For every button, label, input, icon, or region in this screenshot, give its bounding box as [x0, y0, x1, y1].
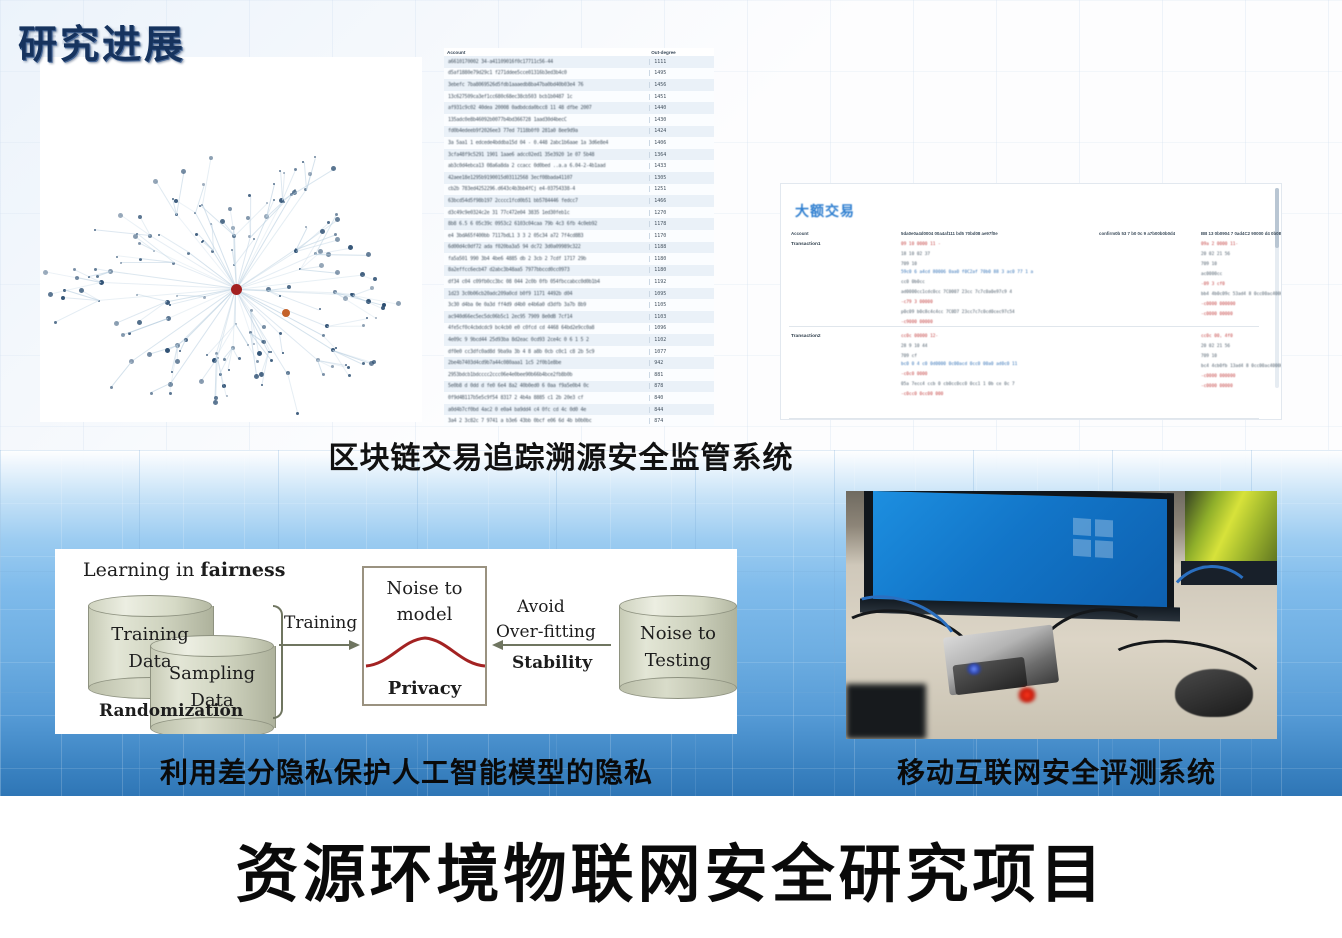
- table-row[interactable]: a0d4b7cf0bd 4ac2 0 e0a4 ba9dd4 c4 0fc cd…: [444, 404, 714, 416]
- graph-node[interactable]: [369, 361, 374, 366]
- graph-node[interactable]: [138, 215, 142, 219]
- differential-privacy-diagram: Learning in fairness Training Data Sampl…: [55, 549, 737, 734]
- graph-edge: [287, 373, 298, 413]
- graph-node[interactable]: [396, 301, 401, 306]
- graph-node[interactable]: [347, 366, 350, 369]
- cell-out-degree: 1433: [649, 163, 714, 169]
- graph-node[interactable]: [362, 324, 365, 327]
- windows-logo-icon: [1073, 518, 1113, 559]
- cell-account: fa5a501 990 3b4 4be6 4885 db 2 3cb 2 7cd…: [444, 256, 649, 262]
- graph-node[interactable]: [118, 213, 123, 218]
- transaction-scrollbar-thumb[interactable]: [1275, 188, 1279, 248]
- graph-node[interactable]: [253, 238, 255, 240]
- cell-out-degree: 1188: [649, 244, 714, 250]
- column-header-account: Account: [447, 50, 651, 55]
- transaction-mid-line: p0c09 b0c8c4c4cc 7C0D7 23cc7c7c0cd0cec97…: [901, 310, 1015, 315]
- table-row[interactable]: 1d23 3c0b06cb20adc209a0cd b0f9 1171 4492…: [444, 288, 714, 300]
- graph-node[interactable]: [136, 294, 138, 296]
- graph-node[interactable]: [110, 386, 113, 389]
- photo-blue-led-icon: [966, 663, 982, 675]
- graph-edge: [151, 384, 171, 394]
- graph-node[interactable]: [327, 221, 330, 224]
- box-privacy-label: Privacy: [364, 678, 485, 699]
- cell-out-degree: 942: [649, 360, 714, 366]
- graph-node[interactable]: [147, 352, 152, 357]
- transaction-right-line: 709 10: [1201, 354, 1217, 359]
- graph-edge: [176, 214, 237, 289]
- cell-out-degree: 874: [649, 418, 714, 424]
- table-row[interactable]: d3c49c9e0324c2e 31 77c472e04 3835 1ed30f…: [444, 207, 714, 219]
- cell-account: df34 c04 c09fb0cc3bc 08 044 2c0b 0fb 054…: [444, 279, 649, 285]
- cell-account: 3c30 d4ba 0e 0a3d ff4d9 d4b0 e4b6a0 d3df…: [444, 302, 649, 308]
- cell-account: 2be4b7403d4cd9b7a44c080aaa1 1c5 2f0b1e8b…: [444, 360, 649, 366]
- transaction-column-hash-0: 5da0e0a4d0004 00a4af111 bd5 70bd08 ae97f…: [901, 231, 998, 236]
- cell-account: d5af1880e79d29c1 f271ddee5cce01316b3ed3b…: [444, 70, 649, 76]
- graph-edge: [300, 269, 338, 274]
- cell-account: df0e0 cc3dfc0ad8d 9ba9a 3b 4 8 a8b 0cb c…: [444, 349, 649, 355]
- graph-edge: [156, 181, 177, 215]
- table-row[interactable]: df34 c04 c09fb0cc3bc 08 044 2c0b 0fb 054…: [444, 276, 714, 288]
- cell-account: 135adc0e8b46092b0077b4bd366728 1aad30d4b…: [444, 117, 649, 123]
- cell-account: 1d23 3c0b06cb20adc209a0cd b0f9 1171 4492…: [444, 291, 649, 297]
- diagram-heading-bold: fairness: [200, 559, 285, 581]
- gaussian-curve: [364, 630, 487, 670]
- cylinder-body: [619, 606, 737, 688]
- cell-out-degree: 1180: [649, 267, 714, 273]
- graph-node[interactable]: [331, 166, 336, 171]
- graph-node[interactable]: [373, 277, 377, 281]
- table-row[interactable]: 3a4 2 3c82c 7 9741 a b3e6 43bb 0bcf e06 …: [444, 415, 714, 426]
- graph-node[interactable]: [254, 374, 259, 379]
- cell-out-degree: 1466: [649, 198, 714, 204]
- transaction-right-line: 20 02 21 56: [1201, 252, 1230, 257]
- graph-node[interactable]: [366, 317, 368, 319]
- cell-out-degree: 1096: [649, 325, 714, 331]
- cell-account: 0f9d4B117b5e5c9f54 8317 2 4b4a 8885 c1 2…: [444, 395, 649, 401]
- graph-node[interactable]: [48, 292, 53, 297]
- table-row[interactable]: e4 3bdA65f400bb 7117bdL1 3 3 2 05c34 a72…: [444, 230, 714, 242]
- photo-laptop-screen: [864, 491, 1174, 615]
- graph-edge: [250, 196, 251, 237]
- transaction-right-line: ac0000cc: [1201, 272, 1222, 277]
- graph-node[interactable]: [150, 392, 153, 395]
- cell-out-degree: 1440: [649, 105, 714, 111]
- transaction-left-line: 18 10 02 37: [901, 252, 930, 257]
- cylinder-noise-label-2: Testing: [619, 650, 737, 671]
- graph-node[interactable]: [96, 275, 99, 278]
- cell-account: ac940d66ec5ec5dc06b5c1 2ec95 7909 8e0dB …: [444, 314, 649, 320]
- graph-node[interactable]: [61, 296, 65, 300]
- cylinder-sampling-label-2: Data: [150, 690, 274, 711]
- table-row[interactable]: 135adc0e8b46092b0077b4bd366728 1aad30d4b…: [444, 114, 714, 126]
- graph-node[interactable]: [335, 347, 337, 349]
- transaction-mid-line: 05a 7ecc4 ccb 0 cb0cc0cc0 0cc1 1 0b ce 0…: [901, 382, 1015, 387]
- graph-node[interactable]: [308, 172, 312, 176]
- transaction-row-label-1: Transaction1: [791, 242, 821, 247]
- cell-account: a6610170002 34-a41109016f0c17711c56-44: [444, 59, 649, 65]
- arrow-training-label: Training: [284, 613, 357, 633]
- transaction-mid-line: ad0000cc1cdc0cc 7C0007 23cc 7c7c0a0e97c9…: [901, 290, 1012, 295]
- graph-node[interactable]: [287, 285, 291, 289]
- transaction-right-line: -c0000 00000: [1201, 312, 1233, 317]
- footer-project-title: 资源环境物联网安全研究项目: [0, 824, 1342, 915]
- graph-node[interactable]: [334, 233, 337, 236]
- page-title: 研究进展: [18, 14, 186, 70]
- graph-node[interactable]: [261, 384, 263, 386]
- cell-out-degree: 1192: [649, 279, 714, 285]
- graph-node[interactable]: [335, 270, 340, 275]
- table-row[interactable]: 5e0b8 d 0dd d fe0 6e4 8a2 40b0ed0 6 0aa …: [444, 381, 714, 393]
- graph-node[interactable]: [296, 412, 299, 415]
- graph-node[interactable]: [256, 360, 259, 363]
- graph-node[interactable]: [223, 358, 226, 361]
- table-row[interactable]: 3cfa48f9c5291 1901 1aae6 adcc02ed1 35e39…: [444, 149, 714, 161]
- cell-out-degree: 1180: [649, 256, 714, 262]
- arrow-training-line: [279, 644, 351, 646]
- box-line-2: model: [364, 604, 485, 625]
- table-row[interactable]: cb2b 783ed4252296.d643c4b3bb4fCj e4-0375…: [444, 184, 714, 196]
- column-header-out-degree: Out-degree: [651, 50, 711, 55]
- cell-out-degree: 1305: [649, 175, 714, 181]
- arrow-avoid-label-1: Avoid: [517, 597, 565, 617]
- table-row[interactable]: 8b8 6.5 6 05c39c 0953c2 6103c04caa 79b 4…: [444, 218, 714, 230]
- transaction-mid-line: -c79 3 00000: [901, 300, 933, 305]
- graph-node[interactable]: [231, 249, 233, 251]
- graph-node[interactable]: [262, 325, 266, 329]
- cell-account: 8b8 6.5 6 05c39c 0953c2 6103c04caa 79b 4…: [444, 221, 649, 227]
- table-row[interactable]: 2953bdcb1bdcccc2ccc06e4e0bee90b66b4bce2f…: [444, 369, 714, 381]
- table-row[interactable]: 63bcd54d5f98b197 2cccc1fcd0b51 bb5784446…: [444, 195, 714, 207]
- graph-edge: [121, 262, 174, 263]
- graph-edge: [303, 161, 306, 189]
- table-row[interactable]: 42aee18e1295b9190015d03112568 3ecf08bada…: [444, 172, 714, 184]
- transaction-mid-line: cc0 0b0cc: [901, 280, 925, 285]
- graph-edge: [327, 326, 364, 327]
- cell-out-degree: 1251: [649, 186, 714, 192]
- graph-node-center[interactable]: [231, 284, 242, 295]
- table-row[interactable]: fa5a501 990 3b4 4be6 4885 db 2 3cb 2 7cd…: [444, 253, 714, 265]
- cell-account: 2953bdcb1bdcccc2ccc06e4e0bee90b66b4bce2f…: [444, 372, 649, 378]
- graph-edge: [111, 361, 132, 387]
- transaction-right-line: 709 10: [1201, 262, 1217, 267]
- graph-node[interactable]: [138, 242, 141, 245]
- graph-node[interactable]: [366, 252, 371, 257]
- photo-mouse: [1175, 669, 1253, 717]
- transaction-divider: [789, 326, 1259, 327]
- graph-node[interactable]: [114, 321, 119, 326]
- cell-account: d3c49c9e0324c2e 31 77c472e04 3835 1ed30f…: [444, 210, 649, 216]
- graph-node[interactable]: [181, 169, 186, 174]
- caption-blockchain-system: 区块链交易追踪溯源安全监管系统: [0, 433, 1232, 477]
- security-testbed-photo-panel: [846, 491, 1277, 739]
- transaction-right-line: -c0000 00000: [1201, 384, 1233, 389]
- graph-node[interactable]: [54, 321, 57, 324]
- cell-account: a0d4b7cf0bd 4ac2 0 e0a4 ba9dd4 c4 0fc cd…: [444, 407, 649, 413]
- graph-node[interactable]: [199, 379, 204, 384]
- graph-edge: [99, 288, 236, 301]
- transaction-mid-line: -c9000 00000: [901, 320, 933, 325]
- cell-account: cb2b 783ed4252296.d643c4b3bb4fCj e4-0375…: [444, 186, 649, 192]
- graph-node[interactable]: [175, 359, 180, 364]
- graph-node[interactable]: [174, 199, 178, 203]
- cylinder-top: [88, 595, 212, 617]
- cylinder-noise-label-1: Noise to: [619, 623, 737, 644]
- cell-account: 5e0b8 d 0dd d fe0 6e4 8a2 40b0ed0 6 0aa …: [444, 383, 649, 389]
- cylinder-top: [619, 595, 737, 617]
- table-row[interactable]: 8a2effcc6ecb47 d2abc3b48aa5 7977bbccd0cc…: [444, 265, 714, 277]
- graph-node[interactable]: [335, 213, 338, 216]
- cell-out-degree: 1430: [649, 117, 714, 123]
- graph-node[interactable]: [228, 369, 230, 371]
- graph-edge: [202, 158, 211, 205]
- out-degree-table-panel[interactable]: Account Out-degree a6610170002 34-a41109…: [444, 48, 714, 426]
- graph-node[interactable]: [165, 348, 170, 353]
- cylinder-sampling-label-1: Sampling: [150, 663, 274, 684]
- table-row[interactable]: 4fe5cf0c4cbdcdc9 bc4cb0 e0 c0fcd cd 4468…: [444, 323, 714, 335]
- transaction-left-line: 709 10: [901, 262, 917, 267]
- transaction-column-account: Account: [791, 231, 809, 236]
- graph-node[interactable]: [195, 233, 198, 236]
- arrow-avoid-label-2: Over-fitting: [496, 622, 596, 642]
- caption-mobile-system: 移动互联网安全评测系统: [897, 751, 1216, 791]
- transaction-right-line: -c0000 000000: [1201, 374, 1235, 379]
- cell-out-degree: 1406: [649, 140, 714, 146]
- cell-out-degree: 844: [649, 407, 714, 413]
- graph-node[interactable]: [335, 237, 340, 242]
- cell-account: 3a4 2 3c82c 7 9741 a b3e6 43bb 0bcf e06 …: [444, 418, 649, 424]
- graph-node[interactable]: [209, 156, 213, 160]
- graph-node[interactable]: [331, 365, 334, 368]
- table-row[interactable]: 3c30 d4ba 0e 0a3d ff4d9 d4b0 e4b6a0 d3df…: [444, 299, 714, 311]
- table-row[interactable]: df0e0 cc3dfc0ad8d 9ba9a 3b 4 8 a8b 0cb c…: [444, 346, 714, 358]
- cell-out-degree: 840: [649, 395, 714, 401]
- cell-out-degree: 1170: [649, 233, 714, 239]
- cell-out-degree: 1103: [649, 314, 714, 320]
- table-row[interactable]: ab3c0d4ebca13 08a6a8da 2 ccacc 0d0bed ..…: [444, 160, 714, 172]
- cell-out-degree: 878: [649, 383, 714, 389]
- graph-node[interactable]: [322, 373, 325, 376]
- transaction-right-line: cc0c 00, 4f0: [1201, 334, 1233, 339]
- graph-node[interactable]: [228, 207, 232, 211]
- table-header-row: Account Out-degree: [444, 48, 714, 56]
- transaction-left-line: 09 10 0000 11 -: [901, 242, 941, 247]
- graph-node[interactable]: [294, 168, 297, 171]
- transaction-right-line: bb4 4b0c09c 53ad4 8 0cc00ac4000000 1cc 0…: [1201, 292, 1282, 297]
- cell-account: 6d00d4c0df72 ada f020ba3a5 94 dc72 3d0a0…: [444, 244, 649, 250]
- cylinder-noise-testing: Noise to Testing: [619, 595, 737, 699]
- brace-bracket: [273, 605, 283, 719]
- large-transaction-title: 大额交易: [795, 201, 855, 221]
- cell-account: 63bcd54d5f98b197 2cccc1fcd0b51 bb5784446…: [444, 198, 649, 204]
- graph-node[interactable]: [226, 395, 228, 397]
- graph-node[interactable]: [137, 320, 142, 325]
- graph-node[interactable]: [120, 262, 122, 264]
- diagram-heading: Learning in fairness: [83, 559, 285, 581]
- graph-edge: [279, 334, 283, 354]
- table-row[interactable]: 13c627509ca3ef1cc680c68ec38cb503 bcb1b04…: [444, 91, 714, 103]
- transaction-mid-line: -c0cc0 0cc00 000: [901, 392, 943, 397]
- transaction-divider: [789, 418, 1259, 419]
- cell-out-degree: 1424: [649, 128, 714, 134]
- cell-account: 4e09c 9 9bcd44 25d93ba 8d2eac 0cd93 2ce4…: [444, 337, 649, 343]
- arrow-training-head: [349, 640, 360, 650]
- cell-out-degree: 1364: [649, 152, 714, 158]
- table-row[interactable]: ac940d66ec5ec5dc06b5c1 2ec95 7909 8e0dB …: [444, 311, 714, 323]
- graph-node[interactable]: [179, 350, 181, 352]
- transaction-mid-line: bc0 0 4 c0 0d0000 0c00acd 0cc0 00a0 ad0c…: [901, 362, 1017, 367]
- graph-node[interactable]: [43, 270, 48, 275]
- cell-out-degree: 1495: [649, 70, 714, 76]
- stability-label: Stability: [512, 653, 592, 673]
- cell-account: 8a2effcc6ecb47 d2abc3b48aa5 7977bbccd0cc…: [444, 267, 649, 273]
- graph-node[interactable]: [273, 199, 275, 201]
- table-row[interactable]: 3a 5aa1 1 edcede4bddba15d 04 - 0.448 2ab…: [444, 137, 714, 149]
- table-row[interactable]: d5af1880e79d29c1 f271ddee5cce01316b3ed3b…: [444, 68, 714, 80]
- table-row[interactable]: 2be4b7403d4cd9b7a44c080aaa1 1c5 2f0b1e8b…: [444, 357, 714, 369]
- cell-account: ab3c0d4ebca13 08a6a8da 2 ccacc 0d0bed ..…: [444, 163, 649, 169]
- graph-node[interactable]: [348, 374, 351, 377]
- cell-out-degree: 1451: [649, 94, 714, 100]
- graph-node[interactable]: [199, 205, 201, 207]
- transaction-left-line: 28 9 10 44: [901, 344, 927, 349]
- graph-edge: [55, 300, 99, 322]
- transaction-right-line: -c0000 000000: [1201, 302, 1235, 307]
- caption-privacy-system: 利用差分隐私保护人工智能模型的隐私: [160, 751, 653, 791]
- graph-node[interactable]: [262, 340, 266, 344]
- cell-out-degree: 1105: [649, 302, 714, 308]
- cell-out-degree: 1102: [649, 337, 714, 343]
- photo-red-led-icon: [1016, 687, 1038, 703]
- graph-node[interactable]: [319, 263, 324, 268]
- cell-out-degree: 1456: [649, 82, 714, 88]
- cell-out-degree: 1077: [649, 349, 714, 355]
- graph-node[interactable]: [283, 172, 285, 174]
- cylinder-training-label-1: Training: [88, 624, 212, 645]
- graph-node[interactable]: [270, 359, 273, 362]
- graph-node[interactable]: [213, 400, 218, 405]
- network-graph-panel: [40, 57, 422, 422]
- cell-out-degree: 1178: [649, 221, 714, 227]
- table-row[interactable]: 3ebefc 7ba8069526d5fdb1aaaedb8ba47ba0bd4…: [444, 79, 714, 91]
- large-transaction-panel[interactable]: 大额交易 Account5da0e0a4d0004 00a4af111 bd5 …: [780, 183, 1282, 420]
- graph-node[interactable]: [94, 229, 96, 231]
- arrow-avoid-line: [503, 644, 611, 646]
- graph-node[interactable]: [116, 256, 118, 258]
- graph-node[interactable]: [266, 202, 268, 204]
- graph-node[interactable]: [282, 352, 284, 354]
- graph-edge: [176, 172, 184, 215]
- graph-edge: [291, 169, 334, 196]
- transaction-right-line: 09a 2 0000 11-: [1201, 242, 1238, 247]
- transaction-column-hash-1: confirm0b 53 7 b0 0c 9 a7b00b0b0d4: [1099, 231, 1175, 236]
- graph-node[interactable]: [75, 276, 79, 280]
- graph-node-secondary[interactable]: [282, 309, 290, 317]
- graph-node[interactable]: [176, 295, 178, 297]
- table-row[interactable]: 4e09c 9 9bcd44 25d93ba 8d2eac 0cd93 2ce4…: [444, 334, 714, 346]
- transaction-right-line: -09 3 cf0: [1201, 282, 1225, 287]
- cylinder-bottom: [619, 677, 737, 699]
- cell-out-degree: 1270: [649, 210, 714, 216]
- diagram-heading-plain: Learning in: [83, 559, 200, 581]
- graph-node[interactable]: [348, 245, 353, 250]
- cell-account: fd0b4edeeb9f2026ee3 77ed 7118b0f0 281a0 …: [444, 128, 649, 134]
- cell-account: af931c9c02 40dea 20008 0adbdcda0bcc8 11 …: [444, 105, 649, 111]
- transaction-row-label-2: Transaction2: [791, 334, 821, 339]
- cell-out-degree: 1095: [649, 291, 714, 297]
- transaction-mid-line: 59c0 6 a4cd 80006 0aa0 f0C2af 70b0 88 3 …: [901, 270, 1033, 275]
- table-body: a6610170002 34-a41109016f0c17711c56-4411…: [444, 56, 714, 426]
- cell-out-degree: 881: [649, 372, 714, 378]
- cell-account: 4fe5cf0c4cbdcdc9 bc4cb0 e0 c0fcd cd 4468…: [444, 325, 649, 331]
- cell-out-degree: 1111: [649, 59, 714, 65]
- table-row[interactable]: 6d00d4c0df72 ada f020ba3a5 94 dc72 3d0a0…: [444, 242, 714, 254]
- cell-account: e4 3bdA65f400bb 7117bdL1 3 3 2 05c34 a72…: [444, 233, 649, 239]
- table-row[interactable]: fd0b4edeeb9f2026ee3 77ed 7118b0f0 281a0 …: [444, 126, 714, 138]
- graph-node[interactable]: [238, 357, 241, 360]
- graph-node[interactable]: [345, 364, 347, 366]
- cell-account: 3cfa48f9c5291 1901 1aae6 adcc02ed1 35e39…: [444, 152, 649, 158]
- graph-node[interactable]: [214, 396, 218, 400]
- transaction-left-line: cc0c 00000 12-: [901, 334, 938, 339]
- transaction-column-hash-2: BB 13 0b0904 7 0ad4C2 90000 d4 0b0BB L 4…: [1201, 231, 1282, 236]
- transaction-right-line: bc4 4cb0fb 13ad4 8 0cc00ac4000000 1cc 0 …: [1201, 364, 1282, 369]
- cell-account: 42aee18e1295b9190015d03112568 3ecf08bada…: [444, 175, 649, 181]
- graph-edge: [122, 318, 168, 336]
- graph-node[interactable]: [375, 317, 377, 319]
- graph-node[interactable]: [257, 351, 262, 356]
- table-row[interactable]: a6610170002 34-a41109016f0c17711c56-4411…: [444, 56, 714, 68]
- graph-node[interactable]: [370, 286, 374, 290]
- cell-account: 3a 5aa1 1 edcede4bddba15d 04 - 0.448 2ab…: [444, 140, 649, 146]
- table-row[interactable]: af931c9c02 40dea 20008 0adbdcda0bcc8 11 …: [444, 102, 714, 114]
- graph-node[interactable]: [362, 362, 365, 365]
- box-line-1: Noise to: [364, 578, 485, 599]
- noise-to-model-box: Noise to model Privacy: [362, 566, 487, 706]
- graph-node[interactable]: [381, 306, 385, 310]
- cell-account: 13c627509ca3ef1cc680c68ec38cb503 bcb1b04…: [444, 94, 649, 100]
- transaction-left-line: 709 cf: [901, 354, 917, 359]
- transaction-right-line: 20 02 21 56: [1201, 344, 1230, 349]
- graph-node[interactable]: [121, 333, 125, 337]
- cell-account: 3ebefc 7ba8069526d5fdb1aaaedb8ba47ba0bd4…: [444, 82, 649, 88]
- graph-node[interactable]: [169, 392, 172, 395]
- graph-node[interactable]: [319, 308, 321, 310]
- transaction-mid-line: -c0c0 0000: [901, 372, 927, 377]
- graph-node[interactable]: [253, 343, 255, 345]
- photo-second-monitor: [1185, 491, 1277, 565]
- graph-node[interactable]: [320, 229, 325, 234]
- table-row[interactable]: 0f9d4B117b5e5c9f54 8317 2 4b4a 8885 c1 2…: [444, 392, 714, 404]
- graph-node[interactable]: [279, 295, 281, 297]
